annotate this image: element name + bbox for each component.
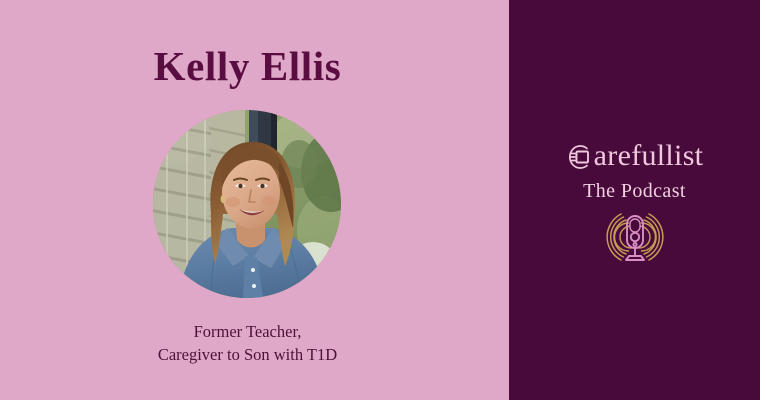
- podcast-microphone-icon: [600, 202, 670, 272]
- avatar: [153, 110, 341, 298]
- guest-role-line-2: Caregiver to Son with T1D: [0, 343, 495, 366]
- carefullist-c-logomark: [566, 142, 593, 172]
- brand-logo: arefullist: [509, 139, 760, 173]
- brand-panel: arefullist The Podcast: [509, 0, 760, 400]
- guest-role: Former Teacher, Caregiver to Son with T1…: [0, 320, 495, 367]
- guest-panel: Kelly Ellis: [0, 0, 509, 400]
- brand-block: arefullist The Podcast: [509, 139, 760, 203]
- page-title: Kelly Ellis: [0, 44, 495, 89]
- guest-portrait-photo: [153, 110, 341, 298]
- podcast-guest-card: Kelly Ellis: [0, 0, 760, 400]
- guest-role-line-1: Former Teacher,: [0, 320, 495, 343]
- brand-tagline: The Podcast: [509, 180, 760, 203]
- brand-name-text: arefullist: [594, 141, 704, 171]
- podcast-microphone-wrap: [509, 202, 760, 272]
